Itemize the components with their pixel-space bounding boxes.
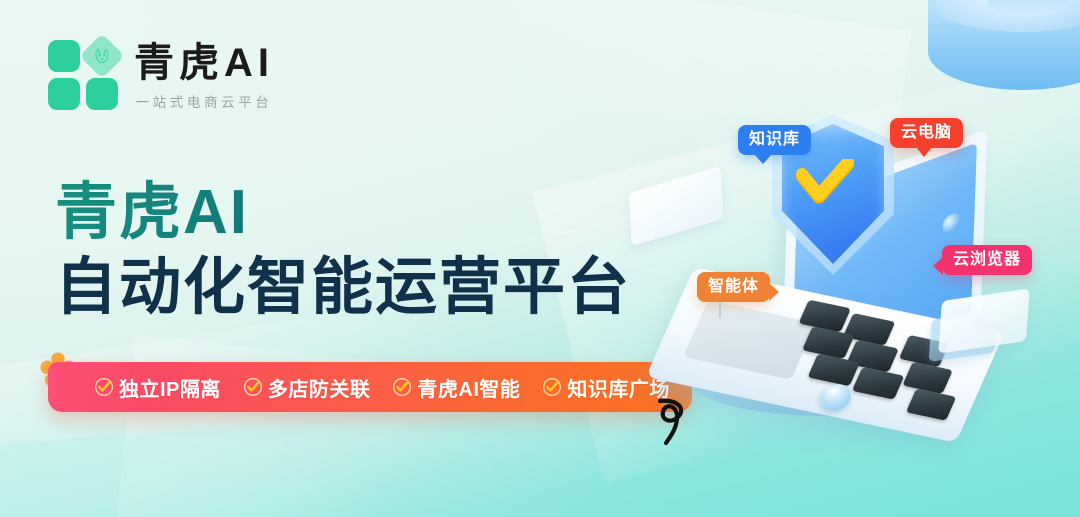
tag-label: 云电脑: [901, 124, 952, 142]
logo-wordmark: 青虎AI 一站式电商云平台: [134, 38, 274, 111]
headline-line-1: 青虎AI: [55, 178, 631, 247]
keyboard-key: [902, 362, 953, 394]
logo-square-bottom-left: [48, 78, 80, 110]
tag-stem: [719, 302, 721, 318]
tag-label: 智能体: [708, 278, 759, 296]
promo-banner: 青虎AI 一站式电商云平台 青虎AI 自动化智能运营平台 独立IP隔离: [0, 0, 1080, 517]
keyboard-key: [799, 300, 852, 333]
tag-pointer: [754, 154, 772, 164]
feature-label: 青虎AI智能: [417, 373, 520, 402]
tag-pointer: [933, 257, 943, 275]
feature-label: 多店防关联: [268, 373, 371, 402]
tag-label: 云浏览器: [953, 251, 1021, 269]
keyboard-key: [852, 367, 905, 400]
check-circle-icon: [392, 377, 412, 397]
keyboard-key: [906, 388, 957, 420]
logo-diamond-tiger: [79, 33, 124, 78]
feature-label: 独立IP隔离: [119, 373, 221, 402]
logo-square-bottom-right: [86, 78, 118, 110]
tag-cloud-browser[interactable]: 云浏览器: [942, 245, 1032, 275]
logo-square-top-left: [48, 40, 80, 72]
shield-checkmark-icon: [796, 159, 854, 207]
tag-pointer: [916, 147, 932, 157]
logo-mark-icon: [48, 38, 120, 110]
tag-label: 知识库: [749, 131, 800, 149]
feature-item[interactable]: 多店防关联: [243, 373, 371, 402]
signature-scribble-icon: [650, 395, 694, 447]
feature-item[interactable]: 独立IP隔离: [94, 373, 221, 402]
tag-cloud-computer[interactable]: 云电脑: [890, 118, 963, 148]
logo-title: 青虎AI: [134, 42, 274, 85]
tag-pointer: [769, 283, 779, 301]
headline-block: 青虎AI 自动化智能运营平台: [55, 178, 631, 323]
check-circle-icon: [243, 377, 263, 397]
tag-ai-agent[interactable]: 智能体: [697, 272, 770, 302]
feature-item[interactable]: 青虎AI智能: [392, 373, 520, 402]
check-circle-icon: [542, 377, 562, 397]
headline-line-2: 自动化智能运营平台: [55, 253, 631, 322]
brand-logo[interactable]: 青虎AI 一站式电商云平台: [48, 38, 274, 111]
screen-glint: [942, 211, 961, 236]
logo-subtitle: 一站式电商云平台: [134, 91, 274, 111]
tiger-face-icon: [92, 46, 112, 66]
check-circle-icon: [94, 377, 114, 397]
tag-knowledge-base[interactable]: 知识库: [738, 125, 811, 155]
feature-highlight-bar: 独立IP隔离 多店防关联 青虎AI智能 知识库广场: [48, 362, 692, 412]
